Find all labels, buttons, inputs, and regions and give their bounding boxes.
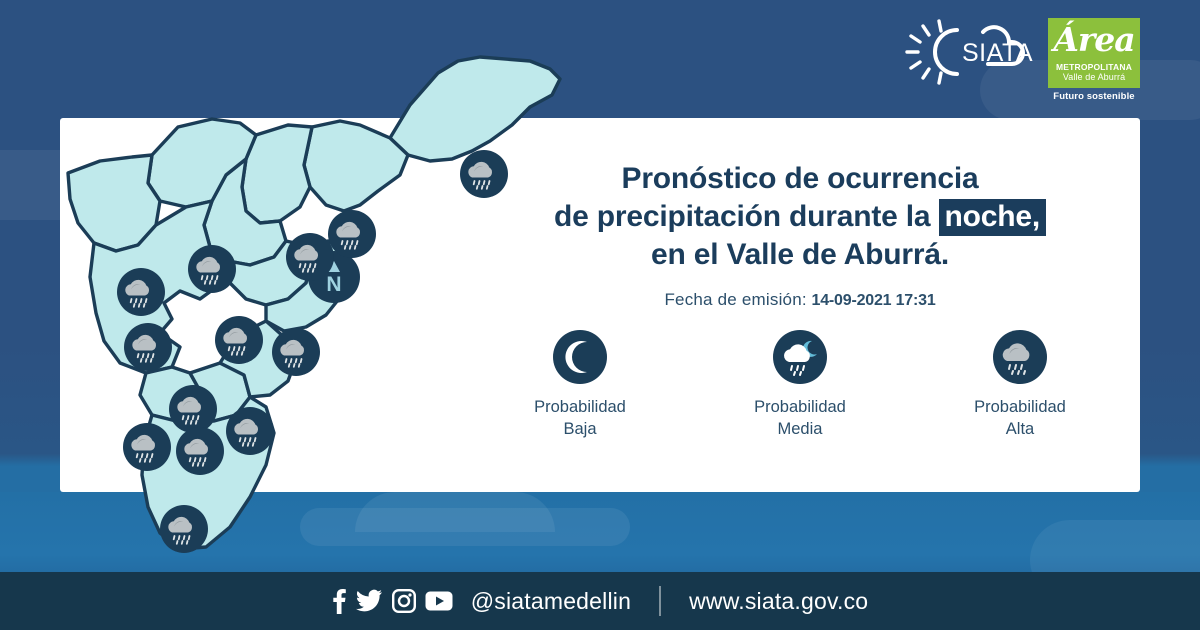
title-line-2-text: de precipitación durante la (554, 200, 930, 233)
probability-legend: Probabilidad Baja (470, 330, 1130, 440)
municipality-barbosa (390, 57, 560, 161)
legend-label-line1: Probabilidad (710, 396, 890, 418)
social-icons (332, 588, 453, 614)
legend-item-media: Probabilidad Media (710, 330, 890, 440)
social-handle[interactable]: @siatamedellin (471, 588, 631, 615)
siata-logo: SIATA (899, 18, 1034, 86)
moon-icon (553, 330, 607, 384)
valle-de-aburra-map: N (60, 55, 580, 575)
legend-item-baja: Probabilidad Baja (490, 330, 670, 440)
facebook-icon[interactable] (332, 588, 347, 614)
legend-item-alta: Probabilidad Alta (930, 330, 1110, 440)
map-marker-rain[interactable] (117, 268, 165, 316)
twitter-icon[interactable] (356, 589, 383, 613)
area-logo-box: Área METROPOLITANA Valle de Aburrá (1048, 18, 1140, 88)
cloud-moon-rain-icon (773, 330, 827, 384)
legend-label-line1: Probabilidad (490, 396, 670, 418)
emission-date-label: Fecha de emisión: (664, 290, 806, 309)
map-marker-rain[interactable] (124, 323, 172, 371)
map-marker-rain[interactable] (226, 407, 274, 455)
footer-divider (659, 586, 661, 616)
footer-bar: @siatamedellin www.siata.gov.co (0, 572, 1200, 630)
youtube-icon[interactable] (425, 591, 453, 611)
map-marker-rain[interactable] (169, 385, 217, 433)
title-line-2: de precipitación durante la noche, (470, 198, 1130, 236)
legend-label-baja: Probabilidad Baja (490, 396, 670, 440)
legend-label-line2: Alta (930, 418, 1110, 440)
map-marker-rain[interactable] (188, 245, 236, 293)
map-marker-rain[interactable] (123, 423, 171, 471)
title-highlight-noche: noche, (939, 199, 1046, 236)
legend-label-line2: Media (710, 418, 890, 440)
text-block: Pronóstico de ocurrencia de precipitació… (470, 160, 1130, 310)
emission-date: Fecha de emisión: 14-09-2021 17:31 (470, 290, 1130, 310)
legend-label-alta: Probabilidad Alta (930, 396, 1110, 440)
map-marker-rain[interactable] (215, 316, 263, 364)
legend-label-line2: Baja (490, 418, 670, 440)
legend-label-media: Probabilidad Media (710, 396, 890, 440)
area-logo-tagline: Futuro sostenible (1048, 91, 1140, 102)
legend-label-line1: Probabilidad (930, 396, 1110, 418)
logo-group: SIATA Área METROPOLITANA Valle de Aburrá… (899, 18, 1140, 108)
title-line-1: Pronóstico de ocurrencia (470, 160, 1130, 198)
area-logo-line1: METROPOLITANA (1048, 62, 1140, 72)
page-title: Pronóstico de ocurrencia de precipitació… (470, 160, 1130, 274)
title-line-3: en el Valle de Aburrá. (470, 236, 1130, 274)
svg-text:SIATA: SIATA (962, 39, 1033, 67)
area-logo-script: Área (1048, 20, 1140, 59)
area-metropolitana-logo: Área METROPOLITANA Valle de Aburrá Futur… (1048, 18, 1140, 108)
infographic-root: SIATA Área METROPOLITANA Valle de Aburrá… (0, 0, 1200, 630)
map-marker-rain[interactable] (160, 505, 208, 553)
map-marker-rain[interactable] (176, 427, 224, 475)
website-url[interactable]: www.siata.gov.co (689, 588, 868, 615)
area-logo-line2: Valle de Aburrá (1048, 72, 1140, 82)
map-marker-rain[interactable] (272, 328, 320, 376)
cloud-rain-icon (993, 330, 1047, 384)
instagram-icon[interactable] (392, 589, 416, 613)
emission-date-value: 14-09-2021 17:31 (812, 292, 936, 309)
map-marker-rain[interactable] (286, 233, 334, 281)
map-marker-rain[interactable] (328, 210, 376, 258)
